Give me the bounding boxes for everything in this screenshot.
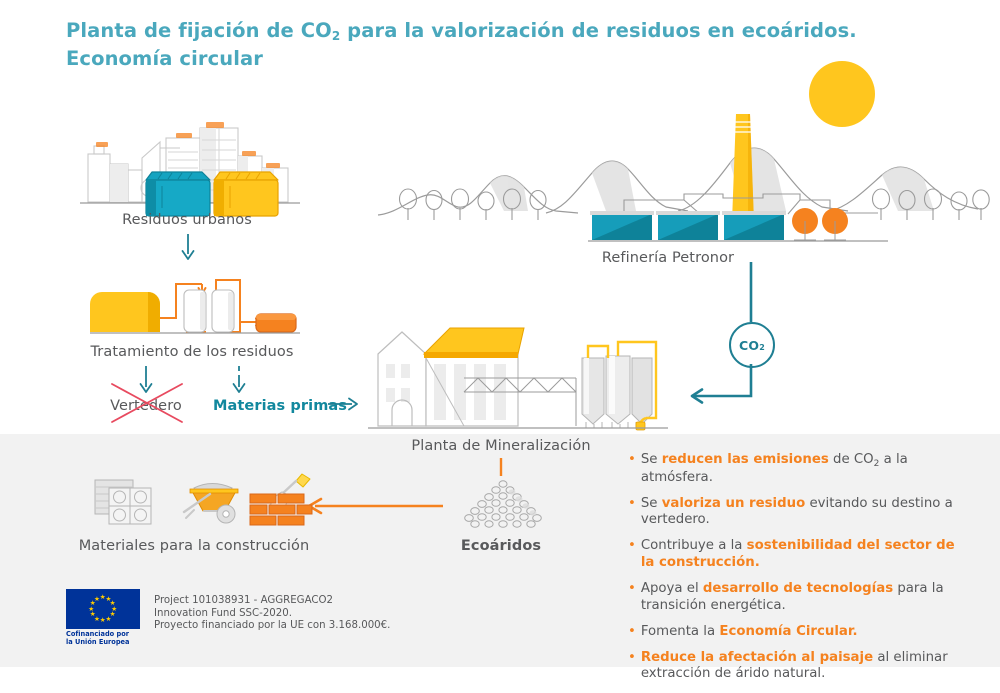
benefit-text-part: Se	[641, 452, 662, 467]
co2-badge-subscript: 2	[759, 343, 765, 352]
benefit-item: •Contribuye a la sostenibilidad del sect…	[628, 538, 968, 571]
benefit-item: •Se reducen las emisiones de CO2 a la at…	[628, 452, 968, 486]
bricks-trowel-icon	[248, 472, 314, 528]
benefit-text-part: Economía Circular.	[719, 624, 857, 639]
benefit-item: •Fomenta la Economía Circular.	[628, 624, 968, 641]
funding-line2: Innovation Fund SSC-2020.	[154, 608, 390, 621]
benefit-text-part: valoriza un residuo	[662, 496, 806, 511]
arrow-ecoaridos-to-materiales	[305, 497, 445, 515]
trees-icon	[395, 188, 575, 224]
arrow-to-materias-primas	[232, 366, 246, 394]
eu-logo-caption: Cofinanciado por la Unión Europea	[66, 631, 140, 646]
bullet-dot-icon: •	[628, 624, 636, 641]
treatment-plant-icon	[90, 268, 300, 340]
title-text-after: para la valorización de residuos en ecoá…	[340, 19, 857, 42]
footer: ★★★★★★★★★★★★ Cofinanciado por la Unión E…	[66, 589, 390, 646]
materiales-construccion-label: Materiales para la construcción	[79, 538, 310, 554]
arrow-materias-to-plant	[328, 396, 358, 412]
benefit-item: •Se valoriza un residuo evitando su dest…	[628, 496, 968, 529]
planta-mineralizacion-label: Planta de Mineralización	[411, 438, 590, 454]
benefit-text: Fomenta la Economía Circular.	[641, 624, 968, 641]
tratamiento-label: Tratamiento de los residuos	[90, 344, 293, 360]
co2-badge-text: CO	[739, 338, 759, 353]
page-title: Planta de fijación de CO2 para la valori…	[66, 18, 866, 71]
benefit-text-part: Se	[641, 496, 662, 511]
wheelbarrow-icon	[180, 474, 252, 528]
funding-line3: Proyecto financiado por la UE con 3.168.…	[154, 620, 390, 633]
paving-slabs-icon	[93, 478, 155, 526]
arrow-residuos-to-tratamiento	[181, 234, 195, 260]
refinery-icon	[588, 108, 888, 243]
benefits-list: •Se reducen las emisiones de CO2 a la at…	[628, 452, 968, 693]
benefit-text: Apoya el desarrollo de tecnologías para …	[641, 581, 968, 614]
benefit-text: Reduce la afectación al paisaje al elimi…	[641, 650, 968, 683]
benefit-item: •Reduce la afectación al paisaje al elim…	[628, 650, 968, 683]
eu-star-icon: ★	[105, 616, 111, 623]
eu-star-icon: ★	[94, 596, 100, 603]
benefit-item: •Apoya el desarrollo de tecnologías para…	[628, 581, 968, 614]
co2-pipe-icon	[744, 262, 758, 322]
residuos-urbanos-label: Residuos urbanos	[122, 212, 252, 228]
eu-caption-line2: la Unión Europea	[66, 639, 140, 647]
plant-to-ecoaridos-connector	[497, 458, 505, 478]
eu-star-icon: ★	[100, 617, 106, 624]
materias-primas-label: Materias primas	[213, 398, 347, 414]
benefit-text-part: 2	[874, 459, 880, 469]
co2-badge: CO2	[729, 322, 775, 368]
page-title-line2: Economía circular	[66, 46, 866, 71]
benefit-text-part: Fomenta la	[641, 624, 720, 639]
eu-logo: ★★★★★★★★★★★★ Cofinanciado por la Unión E…	[66, 589, 140, 646]
benefit-text-part: Contribuye a la	[641, 538, 747, 553]
benefit-text-part: desarrollo de tecnologías	[703, 581, 893, 596]
bullet-dot-icon: •	[628, 650, 636, 667]
waste-bin-teal-icon	[140, 164, 216, 218]
bullet-dot-icon: •	[628, 538, 636, 555]
bullet-dot-icon: •	[628, 452, 636, 469]
benefit-text: Se valoriza un residuo evitando su desti…	[641, 496, 968, 529]
mineralization-plant-icon	[368, 322, 668, 434]
benefit-text-part: reducen las emisiones	[662, 452, 829, 467]
bullet-dot-icon: •	[628, 496, 636, 513]
waste-bin-yellow-icon	[208, 164, 284, 218]
red-cross-icon	[108, 378, 186, 428]
benefit-text-part: Apoya el	[641, 581, 703, 596]
benefit-text: Se reducen las emisiones de CO2 a la atm…	[641, 452, 968, 486]
aggregate-pile-icon	[460, 478, 546, 530]
benefit-text-part: de CO	[829, 452, 874, 467]
page-title-line1: Planta de fijación de CO2 para la valori…	[66, 18, 866, 46]
bullet-dot-icon: •	[628, 581, 636, 598]
eu-flag-icon: ★★★★★★★★★★★★	[66, 589, 140, 629]
title-text-before: Planta de fijación de CO	[66, 19, 332, 42]
title-co2-subscript: 2	[332, 29, 340, 43]
co2-to-plant-arrow	[680, 364, 770, 412]
infographic-canvas: Planta de fijación de CO2 para la valori…	[0, 0, 1000, 667]
benefit-text-part: Reduce la afectación al paisaje	[641, 650, 873, 665]
funding-line1: Project 101038931 - AGGREGACO2	[154, 595, 390, 608]
ecoaridos-label: Ecoáridos	[461, 538, 541, 554]
benefit-text: Contribuye a la sostenibilidad del secto…	[641, 538, 968, 571]
funding-text: Project 101038931 - AGGREGACO2 Innovatio…	[154, 595, 390, 633]
refineria-label: Refinería Petronor	[602, 250, 734, 266]
